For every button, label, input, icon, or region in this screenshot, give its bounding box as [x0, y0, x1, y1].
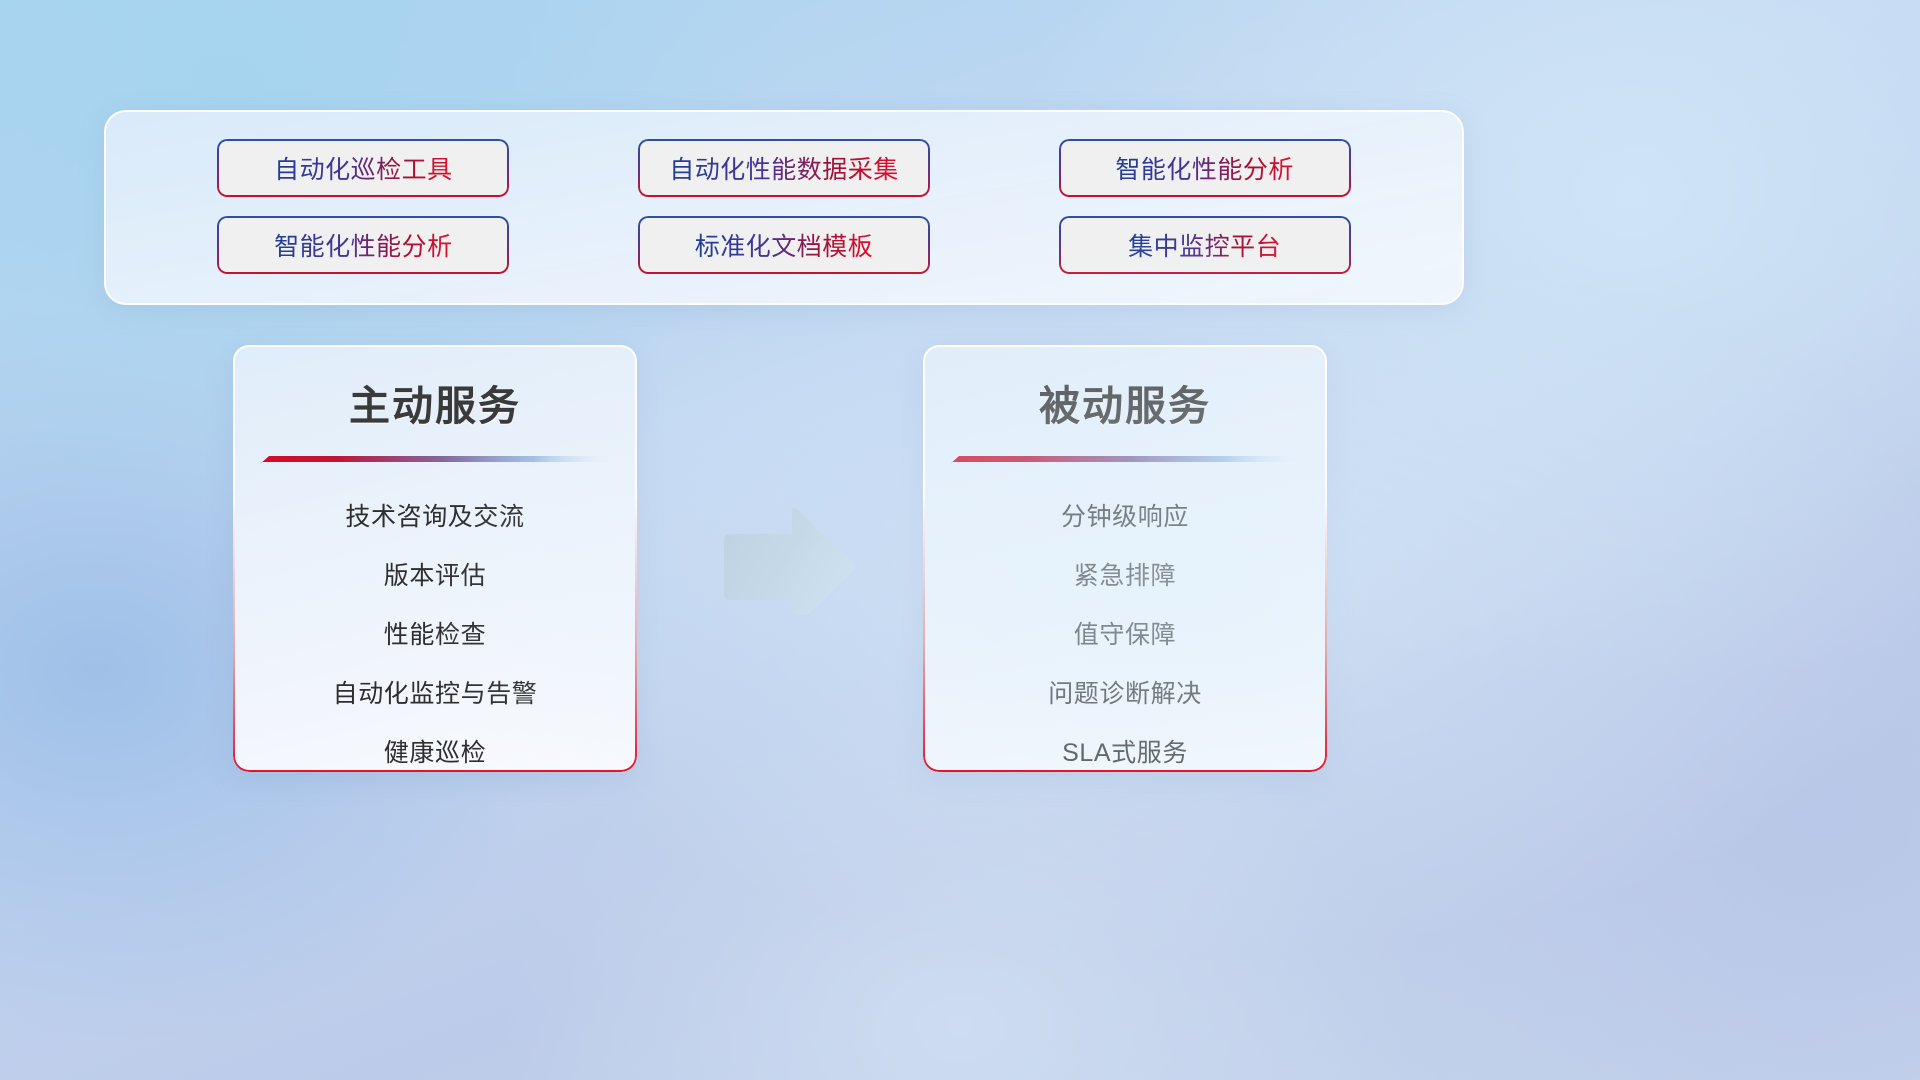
list-item[interactable]: 技术咨询及交流 — [345, 488, 524, 547]
service-item-list: 分钟级响应 紧急排障 值守保障 问题诊断解决 SLA式服务 — [923, 488, 1327, 772]
list-item[interactable]: 紧急排障 — [1074, 547, 1176, 606]
list-item[interactable]: 问题诊断解决 — [1048, 665, 1202, 724]
list-item[interactable]: 性能检查 — [384, 606, 486, 665]
capability-tag-label: 智能化性能分析 — [274, 227, 453, 263]
service-item-list: 技术咨询及交流 版本评估 性能检查 自动化监控与告警 健康巡检 — [233, 488, 637, 772]
slide-canvas: 自动化巡检工具 自动化性能数据采集 智能化性能分析 智能化性能分析 标准化文档模… — [0, 0, 1920, 1080]
capability-tag-label: 自动化巡检工具 — [274, 150, 453, 186]
capability-tag-6[interactable]: 集中监控平台 — [1059, 216, 1351, 274]
title-divider — [949, 454, 1301, 466]
capability-tag-1[interactable]: 自动化巡检工具 — [217, 139, 509, 197]
title-divider — [259, 454, 611, 466]
capability-tag-4[interactable]: 智能化性能分析 — [217, 216, 509, 274]
list-item[interactable]: 版本评估 — [384, 547, 486, 606]
capability-tag-label: 智能化性能分析 — [1115, 150, 1294, 186]
service-card-reactive[interactable]: 被动服务 分钟级响应 紧急排障 值守保障 问题诊断解决 — [923, 345, 1327, 772]
list-item[interactable]: SLA式服务 — [1062, 724, 1188, 772]
card-title: 被动服务 — [923, 372, 1327, 432]
capability-tag-label: 集中监控平台 — [1128, 227, 1281, 263]
card-title: 主动服务 — [233, 372, 637, 432]
service-card-proactive[interactable]: 主动服务 技术咨询及交流 版本评估 性能检查 自动化监控与告警 — [233, 345, 637, 772]
list-item[interactable]: 值守保障 — [1074, 606, 1176, 665]
right-arrow-icon — [718, 505, 858, 615]
list-item[interactable]: 分钟级响应 — [1061, 488, 1189, 547]
list-item[interactable]: 自动化监控与告警 — [333, 665, 538, 724]
capability-tag-5[interactable]: 标准化文档模板 — [638, 216, 930, 274]
capability-tag-2[interactable]: 自动化性能数据采集 — [638, 139, 930, 197]
capability-tag-3[interactable]: 智能化性能分析 — [1059, 139, 1351, 197]
capability-tag-label: 标准化文档模板 — [695, 227, 874, 263]
capability-tag-label: 自动化性能数据采集 — [669, 150, 899, 186]
capabilities-panel: 自动化巡检工具 自动化性能数据采集 智能化性能分析 智能化性能分析 标准化文档模… — [104, 110, 1464, 305]
list-item[interactable]: 健康巡检 — [384, 724, 486, 772]
